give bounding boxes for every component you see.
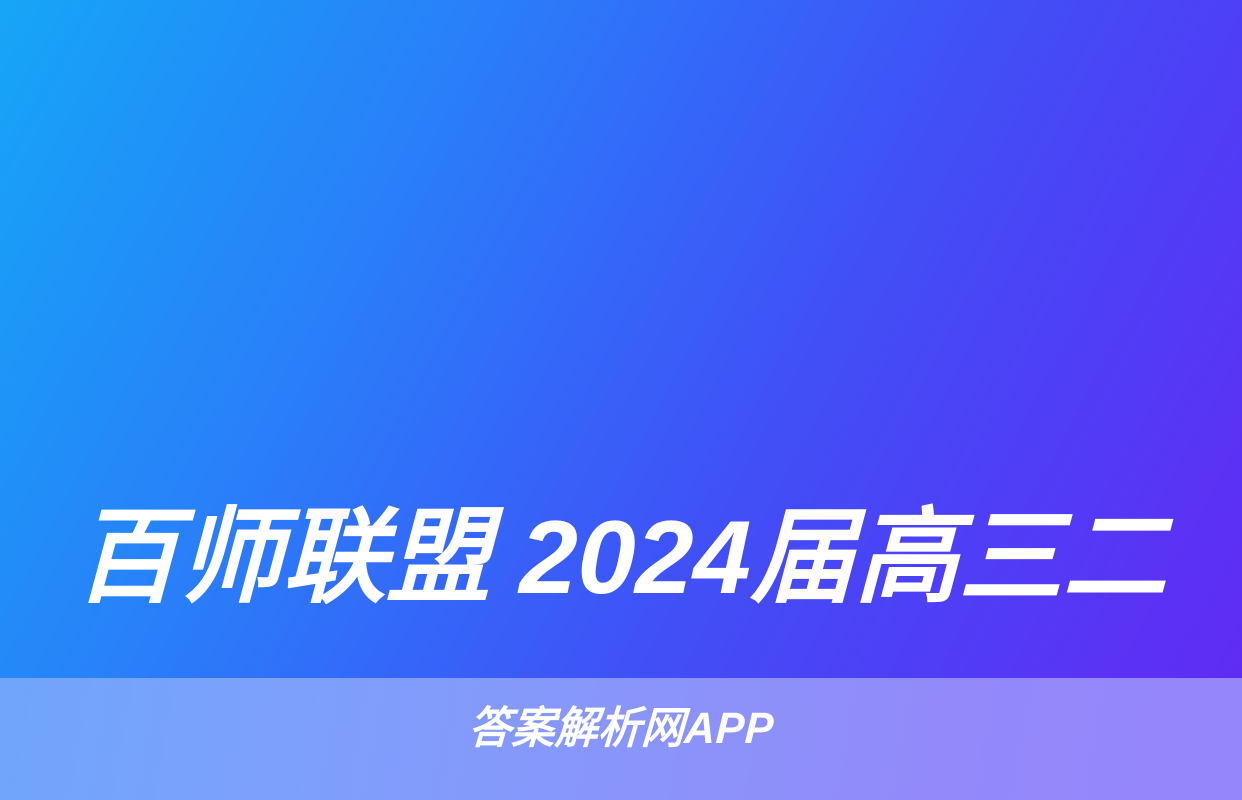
- poster-container: 百师联盟 2024届高三二 轮复习联考(三)3 新高考 卷语文试题 答案解析网A…: [0, 0, 1242, 800]
- watermark-text: 答案解析网APP: [0, 703, 1242, 755]
- watermark-label: 答案解析网APP: [467, 703, 775, 755]
- title-line-1: 百师联盟 2024届高三二: [45, 482, 1198, 634]
